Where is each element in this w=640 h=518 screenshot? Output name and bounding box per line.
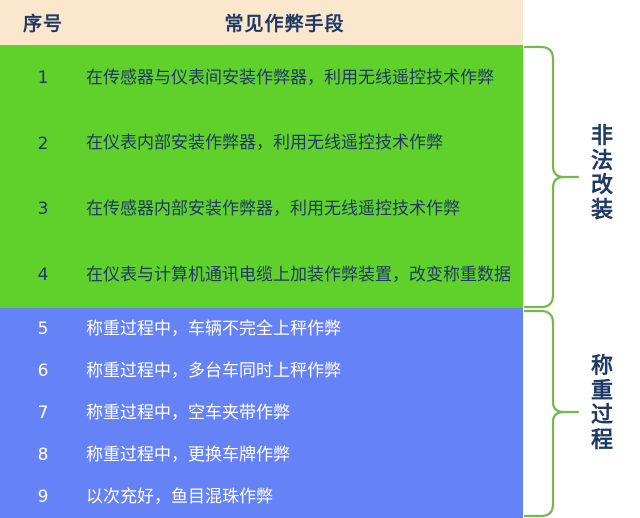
- row-text: 称重过程中，多台车同时上秤作弊: [86, 359, 523, 384]
- group-label-char: 装: [585, 199, 619, 224]
- table-row: 6 称重过程中，多台车同时上秤作弊: [0, 350, 523, 392]
- row-number: 2: [0, 134, 86, 154]
- row-text: 称重过程中，车辆不完全上秤作弊: [86, 317, 523, 342]
- row-number: 4: [0, 265, 86, 285]
- group-weighing-process: 5 称重过程中，车辆不完全上秤作弊 6 称重过程中，多台车同时上秤作弊 7 称重…: [0, 308, 523, 518]
- group-label-weighing-process: 称 重 过 程: [585, 355, 619, 454]
- row-number: 8: [0, 445, 86, 465]
- row-text: 在传感器内部安装作弊器，利用无线遥控技术作弊: [86, 197, 523, 222]
- row-text: 在仪表与计算机通讯电缆上加装作弊装置，改变称重数据: [86, 263, 523, 288]
- table-row: 4 在仪表与计算机通讯电缆上加装作弊装置，改变称重数据: [0, 242, 523, 308]
- row-text: 以次充好，鱼目混珠作弊: [86, 485, 523, 510]
- table-row: 8 称重过程中，更换车牌作弊: [0, 434, 523, 476]
- group-label-char: 重: [585, 380, 619, 405]
- table-row: 3 在传感器内部安装作弊器，利用无线遥控技术作弊: [0, 177, 523, 243]
- header-cell-common-cheating-methods: 常见作弊手段: [86, 9, 523, 36]
- table-header-row: 序号 常见作弊手段: [0, 0, 523, 45]
- row-number: 3: [0, 199, 86, 219]
- row-text: 称重过程中，更换车牌作弊: [86, 443, 523, 468]
- group-label-char: 称: [585, 355, 619, 380]
- group-label-illegal-modification: 非 法 改 装: [585, 125, 619, 224]
- table-row: 2 在仪表内部安装作弊器，利用无线遥控技术作弊: [0, 111, 523, 177]
- curly-brace-group: [523, 0, 640, 518]
- table-row: 1 在传感器与仪表间安装作弊器，利用无线遥控技术作弊: [0, 45, 523, 111]
- row-text: 在仪表内部安装作弊器，利用无线遥控技术作弊: [86, 131, 523, 156]
- group-annotation-area: 非 法 改 装 称 重 过 程: [523, 0, 640, 518]
- row-number: 7: [0, 403, 86, 423]
- brace-weighing-process-icon: [525, 311, 564, 516]
- group-label-char: 程: [585, 429, 619, 454]
- header-cell-sequence-number: 序号: [0, 9, 86, 36]
- group-illegal-modification: 1 在传感器与仪表间安装作弊器，利用无线遥控技术作弊 2 在仪表内部安装作弊器，…: [0, 45, 523, 308]
- row-number: 5: [0, 319, 86, 339]
- group-label-char: 过: [585, 404, 619, 429]
- row-number: 6: [0, 361, 86, 381]
- brace-illegal-modification-icon: [525, 47, 564, 307]
- cheating-methods-table: 序号 常见作弊手段 1 在传感器与仪表间安装作弊器，利用无线遥控技术作弊 2 在…: [0, 0, 523, 518]
- table-row: 7 称重过程中，空车夹带作弊: [0, 392, 523, 434]
- group-label-char: 非: [585, 125, 619, 150]
- table-row: 5 称重过程中，车辆不完全上秤作弊: [0, 308, 523, 350]
- row-text: 在传感器与仪表间安装作弊器，利用无线遥控技术作弊: [86, 66, 523, 91]
- group-label-char: 改: [585, 174, 619, 199]
- table-row: 9 以次充好，鱼目混珠作弊: [0, 476, 523, 518]
- row-text: 称重过程中，空车夹带作弊: [86, 401, 523, 426]
- group-label-char: 法: [585, 150, 619, 175]
- row-number: 1: [0, 68, 86, 88]
- row-number: 9: [0, 487, 86, 507]
- slide-root: 序号 常见作弊手段 1 在传感器与仪表间安装作弊器，利用无线遥控技术作弊 2 在…: [0, 0, 640, 518]
